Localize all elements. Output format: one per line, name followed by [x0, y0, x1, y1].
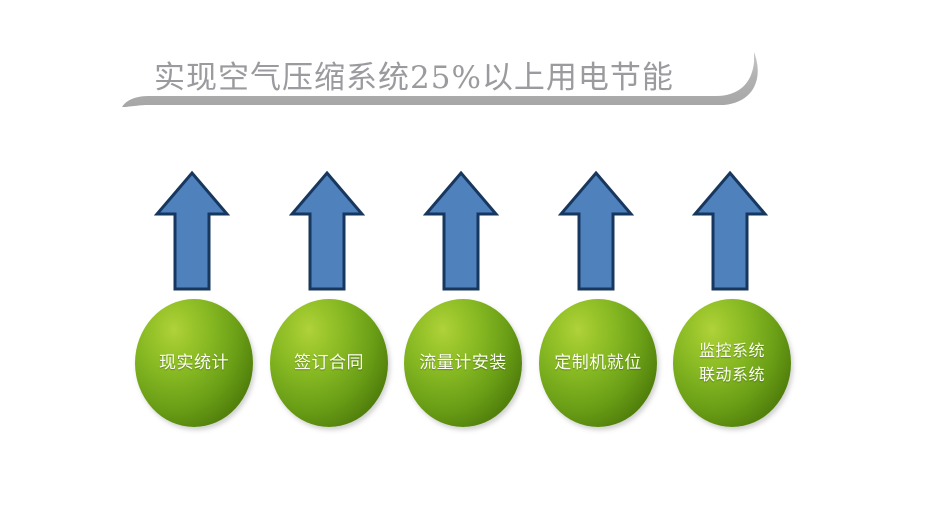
step-node-1[interactable]: 现实统计	[135, 299, 253, 427]
step-node-3-label: 流量计安装	[415, 352, 511, 375]
page-title: 实现空气压缩系统25%以上用电节能	[154, 48, 724, 108]
arrow-up-icon-step-2	[289, 170, 365, 292]
step-node-3[interactable]: 流量计安装	[404, 299, 522, 427]
arrow-up-icon-step-1	[154, 170, 230, 292]
step-node-5[interactable]: 监控系统 联动系统	[673, 299, 791, 427]
step-node-4-label: 定制机就位	[550, 352, 646, 375]
title-banner: 实现空气压缩系统25%以上用电节能	[118, 38, 778, 138]
step-node-2-label: 签订合同	[290, 352, 368, 375]
step-node-5-label: 监控系统 联动系统	[695, 339, 769, 387]
arrow-up-icon-step-4	[558, 170, 634, 292]
step-node-1-label: 现实统计	[155, 352, 233, 375]
arrow-up-icon-step-5	[692, 170, 768, 292]
slide-canvas: 实现空气压缩系统25%以上用电节能 现实统计 签订合同 流量计安装	[0, 0, 945, 529]
arrow-up-icon-step-3	[423, 170, 499, 292]
step-node-2[interactable]: 签订合同	[270, 299, 388, 427]
step-node-4[interactable]: 定制机就位	[539, 299, 657, 427]
